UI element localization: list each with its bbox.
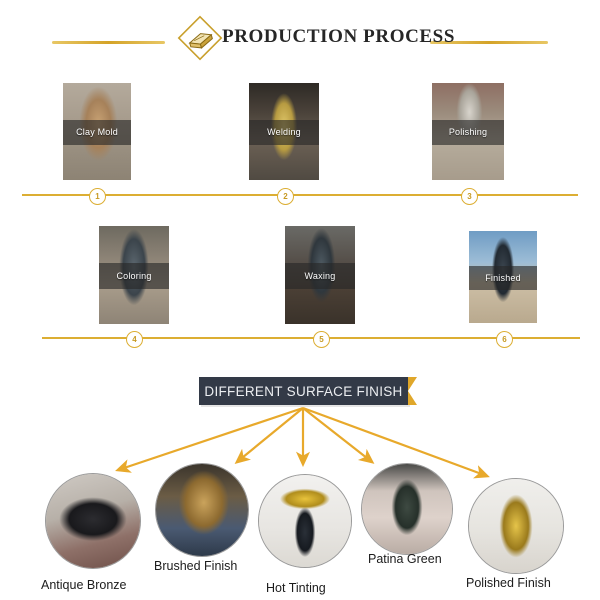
banner-title: DIFFERENT SURFACE FINISH — [204, 384, 402, 399]
photo-label-band: Waxing — [285, 263, 355, 288]
page-header: PRODUCTION PROCESS — [0, 8, 600, 62]
finish-label-antique-bronze: Antique Bronze — [41, 578, 126, 592]
process-step-label: Coloring — [116, 271, 151, 281]
finish-circle-hot-tinting — [258, 474, 352, 568]
header-rule-left — [52, 41, 165, 44]
brushed-finish-photo — [156, 464, 248, 556]
process-step-label: Clay Mold — [76, 127, 118, 137]
surface-finish-banner: DIFFERENT SURFACE FINISH — [199, 377, 408, 405]
process-photo-coloring: Coloring — [99, 226, 169, 324]
process-photo-polishing: Polishing — [432, 83, 504, 180]
process-step-label: Welding — [267, 127, 301, 137]
process-photo-waxing: Waxing — [285, 226, 355, 324]
process-step-marker-1: 1 — [89, 188, 106, 205]
finish-circle-brushed-finish — [155, 463, 249, 557]
finish-label-hot-tinting: Hot Tinting — [266, 581, 326, 595]
process-step-label: Polishing — [449, 127, 487, 137]
process-step-marker-6: 6 — [496, 331, 513, 348]
antique-bronze-photo — [46, 474, 140, 568]
process-photo-finished: Finished — [469, 231, 537, 323]
photo-label-band: Welding — [249, 120, 319, 145]
photo-label-band: Coloring — [99, 263, 169, 288]
finish-circle-patina-green — [361, 463, 453, 555]
finish-label-brushed-finish: Brushed Finish — [154, 559, 237, 573]
finish-circle-antique-bronze — [45, 473, 141, 569]
finish-label-polished-finish: Polished Finish — [466, 576, 551, 590]
infographic-canvas: PRODUCTION PROCESS Clay Mold Welding Pol… — [0, 0, 600, 600]
photo-label-band: Clay Mold — [63, 120, 131, 145]
patina-green-photo — [362, 464, 452, 554]
process-photo-welding: Welding — [249, 83, 319, 180]
process-step-label: Finished — [485, 273, 521, 283]
hot-tinting-photo — [259, 475, 351, 567]
photo-label-band: Polishing — [432, 120, 504, 145]
process-step-marker-4: 4 — [126, 331, 143, 348]
banner-ribbon-tail — [408, 377, 417, 405]
diamond-book-icon — [172, 10, 228, 66]
process-step-marker-5: 5 — [313, 331, 330, 348]
finish-circle-polished-finish — [468, 478, 564, 574]
photo-label-band: Finished — [469, 266, 537, 290]
page-title: PRODUCTION PROCESS — [222, 26, 455, 48]
process-step-marker-3: 3 — [461, 188, 478, 205]
process-photo-clay-mold: Clay Mold — [63, 83, 131, 180]
finish-label-patina-green: Patina Green — [368, 552, 442, 566]
polished-finish-photo — [469, 479, 563, 573]
process-step-label: Waxing — [305, 271, 336, 281]
process-step-marker-2: 2 — [277, 188, 294, 205]
